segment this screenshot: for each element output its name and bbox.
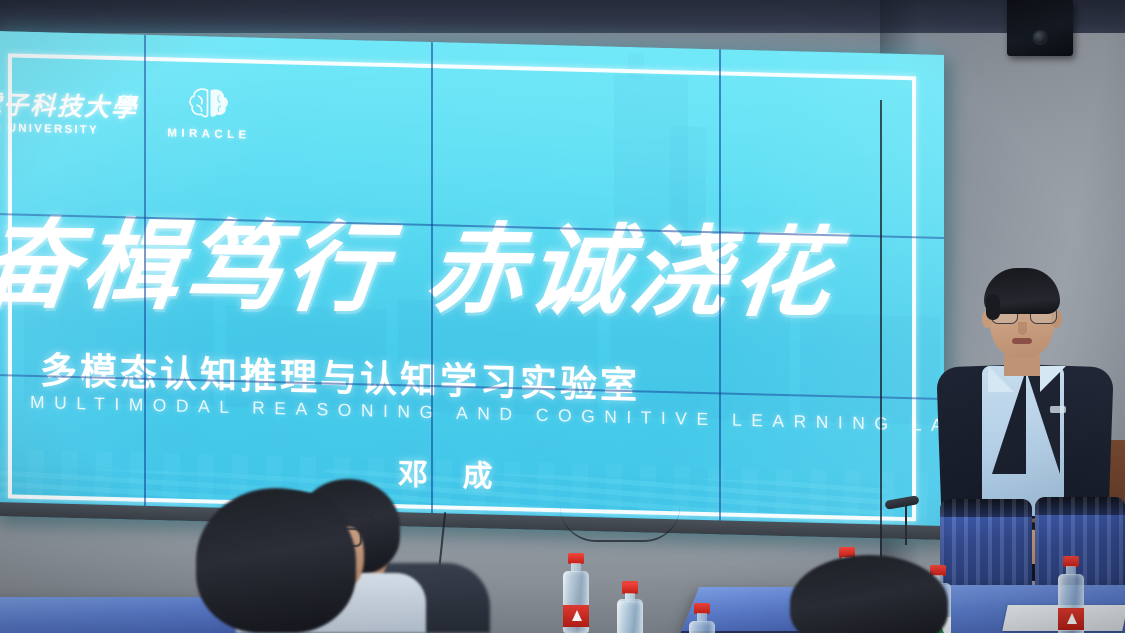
- mouth: [1012, 338, 1032, 344]
- lapel-badge: [1050, 406, 1066, 413]
- panel-seam: [431, 42, 433, 527]
- panel-seam: [719, 49, 721, 534]
- panel-seam: [144, 35, 146, 520]
- nose: [1018, 322, 1027, 335]
- bottle-body: [689, 621, 715, 633]
- audience-head: [196, 488, 356, 633]
- hanging-cable: [880, 100, 882, 620]
- slide-logos: 電子科技大學 IAN UNIVERSITY: [0, 79, 274, 166]
- bottle-label: [1058, 608, 1084, 630]
- bottle-label: [563, 605, 589, 627]
- hair: [984, 268, 1060, 314]
- microphone-stand: [905, 505, 907, 545]
- led-video-wall: 電子科技大學 IAN UNIVERSITY: [0, 31, 944, 540]
- shirt-collar-right: [1040, 366, 1066, 392]
- hanging-cable: [560, 506, 680, 542]
- ceiling-speaker-icon: [1007, 0, 1073, 56]
- presentation-photo: 電子科技大學 IAN UNIVERSITY: [0, 0, 1125, 633]
- ceiling: [0, 0, 1125, 33]
- miracle-lab-logo: MIRACLE: [154, 83, 264, 162]
- speaker-cone: [1033, 30, 1048, 45]
- xidian-university-logo: 電子科技大學 IAN UNIVERSITY: [0, 85, 136, 153]
- university-logo-cn: 電子科技大學: [0, 85, 136, 125]
- brain-icon: [185, 84, 233, 121]
- miracle-logo-text: MIRACLE: [154, 127, 264, 142]
- slide-presenter-name: 邓 成: [398, 449, 504, 496]
- bottle-body: [617, 601, 643, 633]
